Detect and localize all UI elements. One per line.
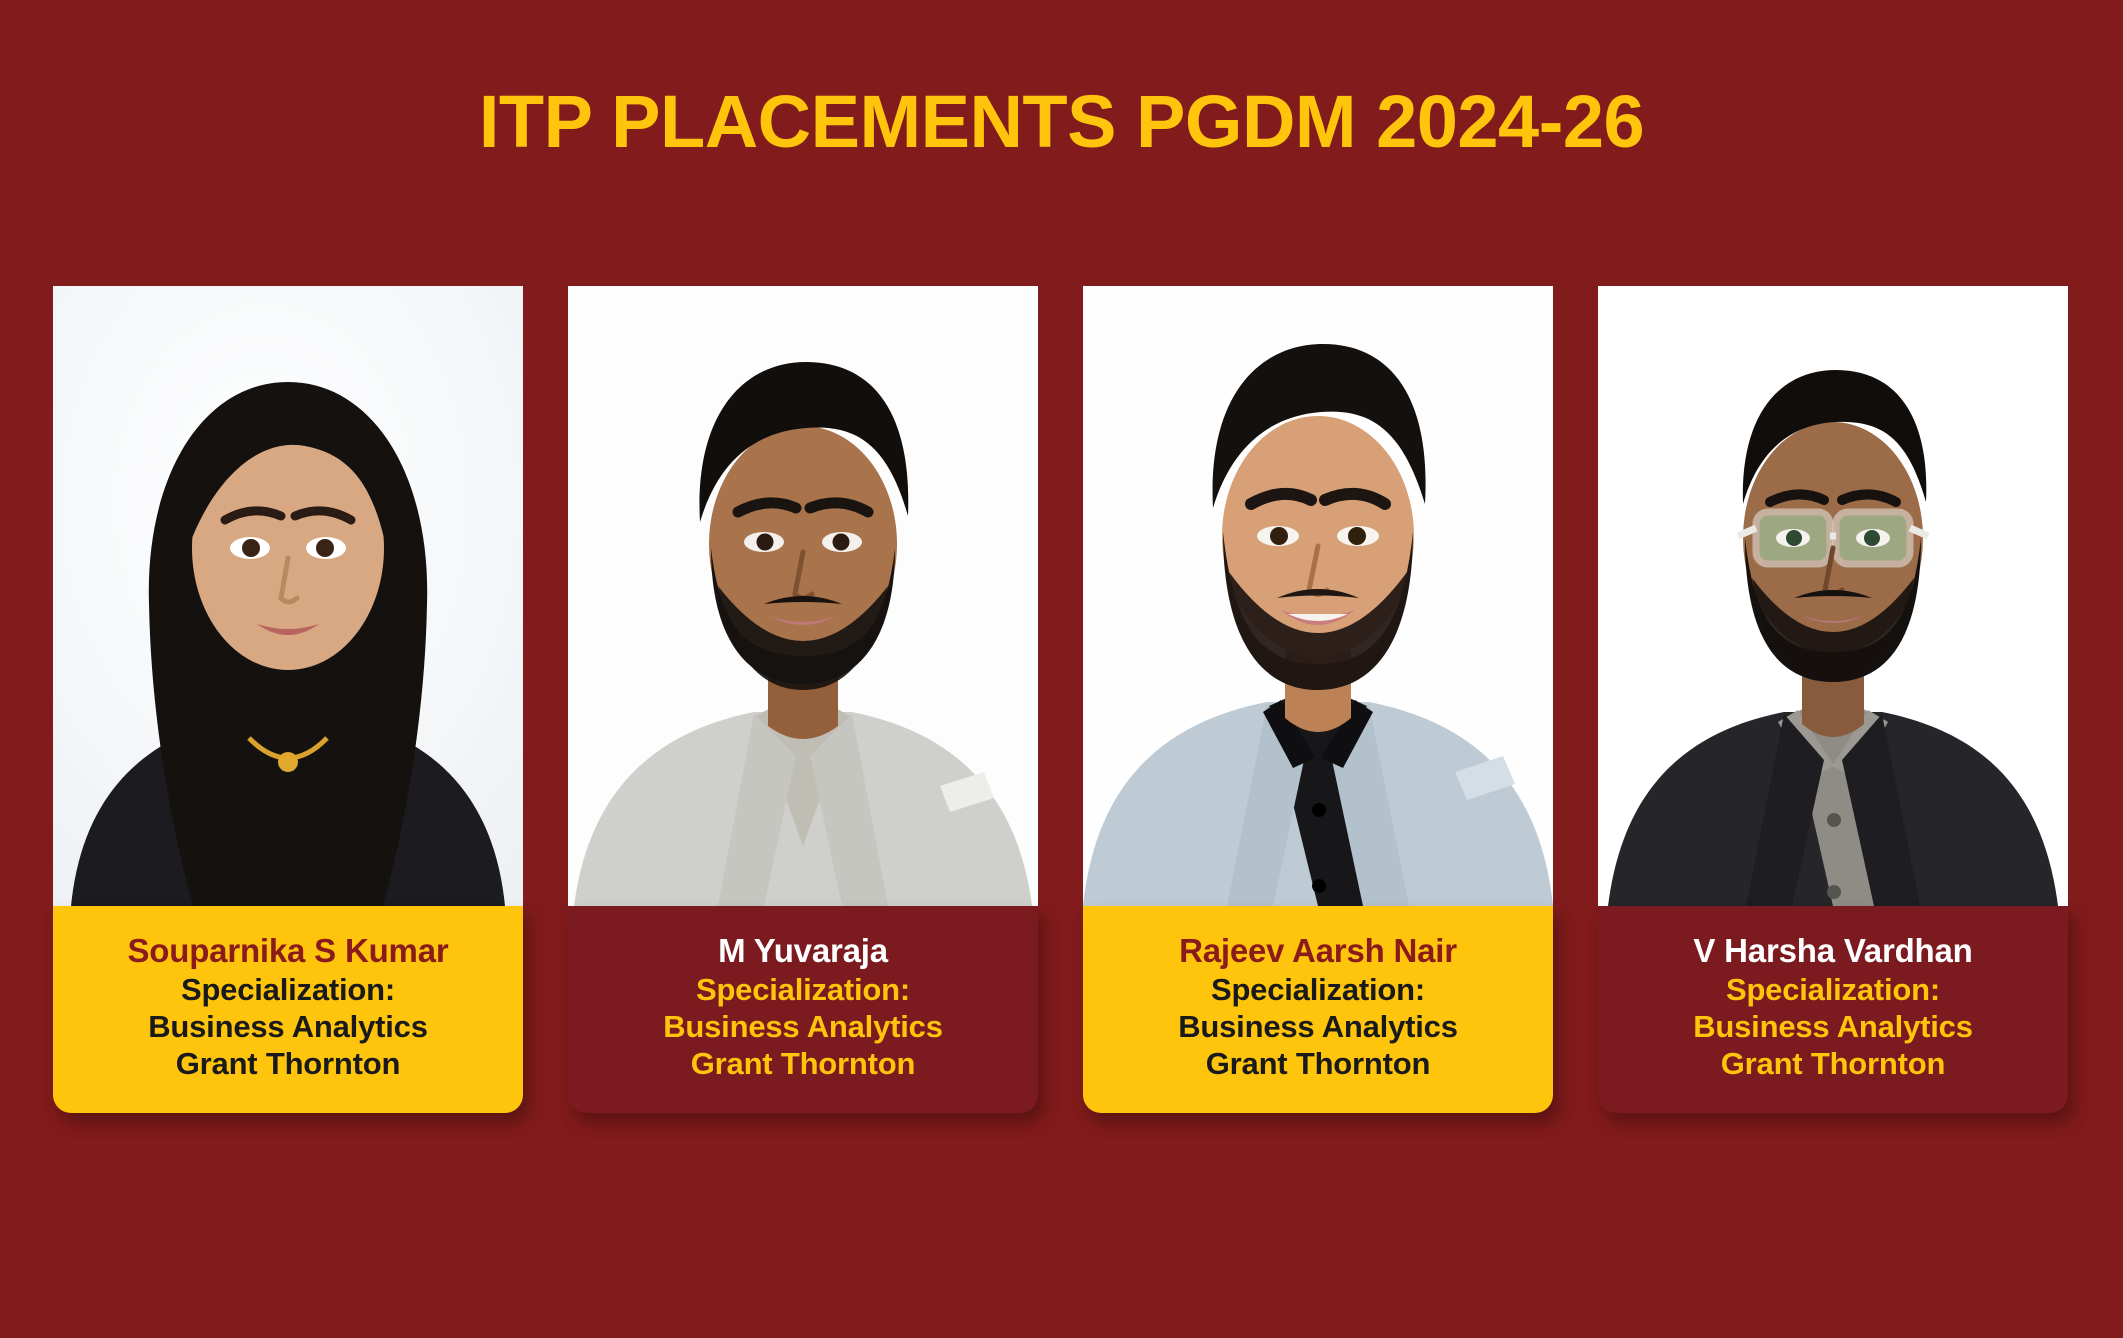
- specialization-value: Business Analytics: [1608, 1008, 2058, 1045]
- student-name: M Yuvaraja: [578, 932, 1028, 971]
- student-caption: Souparnika S Kumar Specialization: Busin…: [53, 906, 523, 1113]
- student-name: Rajeev Aarsh Nair: [1093, 932, 1543, 971]
- student-name: Souparnika S Kumar: [63, 932, 513, 971]
- company-name: Grant Thornton: [1608, 1045, 2058, 1082]
- placement-card-list: Souparnika S Kumar Specialization: Busin…: [53, 286, 2072, 1113]
- portrait-illustration: [53, 286, 523, 906]
- specialization-label: Specialization:: [63, 971, 513, 1008]
- student-caption: V Harsha Vardhan Specialization: Busines…: [1598, 906, 2068, 1113]
- company-name: Grant Thornton: [578, 1045, 1028, 1082]
- specialization-label: Specialization:: [1093, 971, 1543, 1008]
- specialization-label: Specialization:: [1608, 971, 2058, 1008]
- student-photo: [568, 286, 1038, 906]
- company-name: Grant Thornton: [1093, 1045, 1543, 1082]
- placement-card[interactable]: V Harsha Vardhan Specialization: Busines…: [1598, 286, 2068, 1113]
- specialization-value: Business Analytics: [63, 1008, 513, 1045]
- student-photo: [1598, 286, 2068, 906]
- student-photo: [1083, 286, 1553, 906]
- portrait-illustration: [1083, 286, 1553, 906]
- specialization-value: Business Analytics: [1093, 1008, 1543, 1045]
- portrait-illustration: [1598, 286, 2068, 906]
- placement-card[interactable]: M Yuvaraja Specialization: Business Anal…: [568, 286, 1038, 1113]
- student-caption: Rajeev Aarsh Nair Specialization: Busine…: [1083, 906, 1553, 1113]
- student-name: V Harsha Vardhan: [1608, 932, 2058, 971]
- specialization-value: Business Analytics: [578, 1008, 1028, 1045]
- company-name: Grant Thornton: [63, 1045, 513, 1082]
- specialization-label: Specialization:: [578, 971, 1028, 1008]
- placement-card[interactable]: Souparnika S Kumar Specialization: Busin…: [53, 286, 523, 1113]
- student-photo: [53, 286, 523, 906]
- placement-card[interactable]: Rajeev Aarsh Nair Specialization: Busine…: [1083, 286, 1553, 1113]
- portrait-illustration: [568, 286, 1038, 906]
- page-title: ITP PLACEMENTS PGDM 2024-26: [0, 85, 2123, 159]
- student-caption: M Yuvaraja Specialization: Business Anal…: [568, 906, 1038, 1113]
